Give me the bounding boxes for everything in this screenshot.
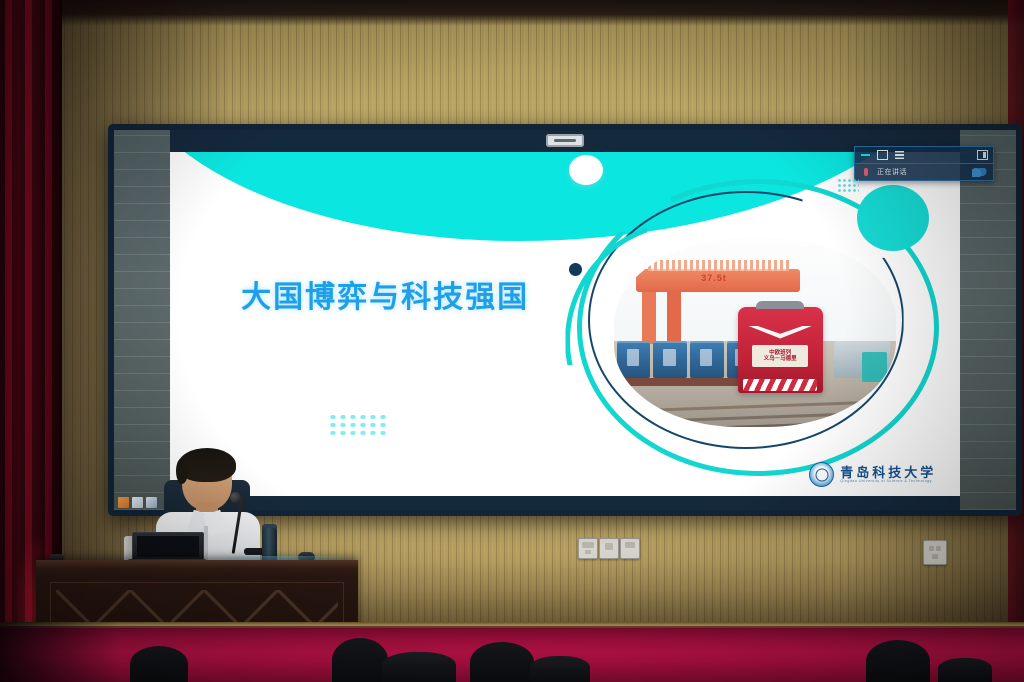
taskbar-app-icon-2[interactable] [132, 497, 143, 508]
locomotive-skirt [743, 379, 817, 391]
microphone-head [230, 492, 241, 503]
panel-toggle-icon[interactable] [977, 150, 988, 161]
audio-waveform-icon [972, 168, 988, 177]
audience-head [332, 638, 388, 682]
gantry-leg-right [667, 288, 681, 344]
gantry-leg-left [642, 288, 656, 344]
microphone-icon[interactable] [860, 167, 871, 178]
podium-top-surface [36, 560, 358, 569]
slide-dot-grid-decoration [328, 413, 386, 439]
slide-title: 大国博弈与科技强国 [241, 272, 529, 316]
wall-socket-1[interactable] [578, 538, 598, 559]
gantry-capacity-label: 37.5t [701, 273, 727, 283]
wall-socket-right[interactable] [923, 540, 947, 565]
taskbar-app-icon-1[interactable] [118, 497, 129, 508]
container-wagon [617, 341, 651, 379]
university-name-cn: 青岛科技大学 [840, 466, 936, 480]
presentation-slide: 大国博弈与科技强国 [170, 152, 960, 496]
train-placard: 中欧班列 义乌－马德里 [752, 345, 808, 367]
background-equipment [862, 352, 887, 382]
overlay-dot-decoration [837, 178, 859, 194]
placard-line-2: 义乌－马德里 [764, 356, 797, 362]
university-logo: 青岛科技大学 Qingdao University of Science & T… [809, 462, 936, 487]
slide-graphic: 37.5t 中欧班列 义乌－马德 [573, 173, 944, 476]
audience-head [530, 656, 590, 682]
restore-window-icon[interactable] [877, 150, 888, 161]
audience-head [382, 652, 456, 682]
locomotive: 中欧班列 义乌－马德里 [738, 307, 823, 393]
container-wagon [690, 341, 724, 379]
audience-head [866, 640, 930, 682]
audience-head [470, 642, 534, 682]
conference-overlay-panel[interactable]: 正在讲话 [854, 146, 994, 181]
floor-shadow-left [0, 622, 120, 682]
speaking-status-text: 正在讲话 [877, 167, 966, 177]
audience-head [938, 658, 992, 682]
ring-node-dot [569, 263, 582, 276]
wall-socket-2[interactable] [599, 538, 619, 559]
presenter-hair-side [176, 458, 188, 484]
university-emblem-icon [809, 462, 834, 487]
wall-socket-3[interactable] [620, 538, 640, 559]
gantry-crane-rail [648, 260, 789, 271]
locomotive-chevron [748, 326, 812, 340]
container-wagon [653, 341, 687, 379]
university-name-en: Qingdao University of Science & Technolo… [840, 480, 936, 484]
overlay-status-row: 正在讲话 [855, 164, 993, 180]
minimize-icon[interactable] [860, 150, 871, 161]
lecture-hall-scene: 大国博弈与科技强国 [0, 0, 1024, 682]
letterbox-right [960, 130, 1016, 510]
camera-sensor-icon [546, 134, 584, 147]
freight-train-photo: 37.5t 中欧班列 义乌－马德 [614, 239, 896, 427]
audience-head [130, 646, 188, 682]
overlay-toolbar-row [855, 147, 993, 164]
wagon-underframe [619, 378, 743, 386]
university-name-block: 青岛科技大学 Qingdao University of Science & T… [840, 466, 936, 483]
locomotive-roof [756, 301, 803, 310]
list-menu-icon[interactable] [894, 150, 905, 161]
laptop-screen [132, 532, 204, 562]
